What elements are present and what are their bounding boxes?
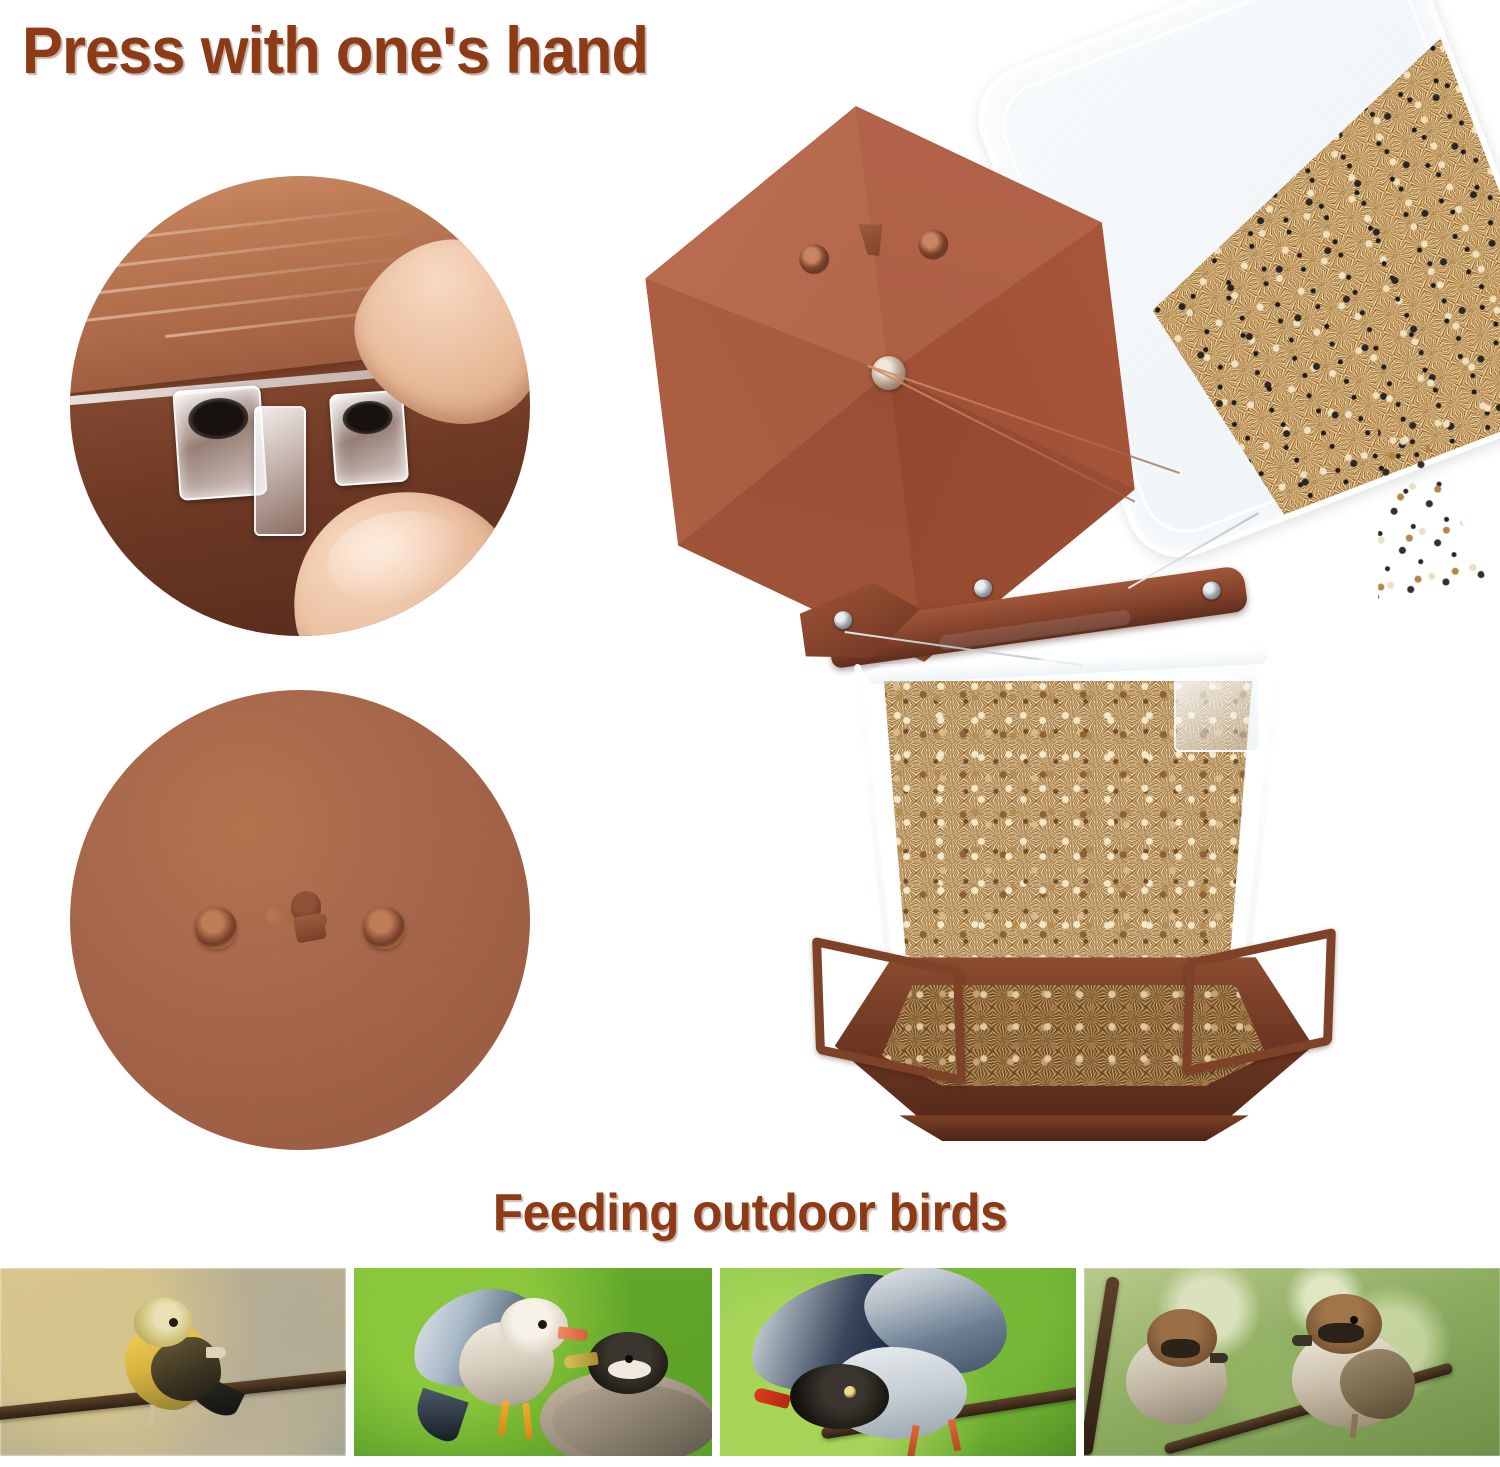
bird-photo-strip xyxy=(0,1268,1500,1456)
press-lid-scene xyxy=(70,176,530,636)
page-title: Press with one's hand xyxy=(22,12,648,88)
bird-beak xyxy=(1210,1353,1228,1363)
bird-starling-perched xyxy=(540,1332,712,1456)
bird-wing xyxy=(552,1385,712,1456)
bird-sparrow-right xyxy=(1284,1294,1424,1430)
bird-greenfinch xyxy=(118,1298,238,1420)
bird-photo-greenfinch xyxy=(0,1268,346,1456)
roof-top-hardware xyxy=(195,885,405,955)
bird-photo-starlings xyxy=(354,1268,712,1456)
bird-beak xyxy=(753,1387,791,1409)
feeder-tray-base xyxy=(814,916,1334,1146)
roof-eyelet-right xyxy=(363,907,405,949)
canopy-hook xyxy=(850,220,894,259)
roof-eyelet-left xyxy=(195,907,237,949)
bird-sparrow-left xyxy=(1126,1309,1246,1429)
bird-head xyxy=(1147,1309,1217,1367)
clear-clip-right xyxy=(329,390,409,487)
section-caption: Feeding outdoor birds xyxy=(38,1183,1463,1243)
linkage-pin xyxy=(973,578,993,598)
bird-head xyxy=(1306,1294,1382,1354)
tray-front-lip xyxy=(856,1115,1293,1141)
bird-leg xyxy=(948,1418,962,1451)
bird-photo-sparrows xyxy=(1084,1268,1500,1456)
canopy-eyelet-left xyxy=(797,242,830,275)
bird-head xyxy=(790,1364,889,1429)
clear-clip-tab xyxy=(254,406,306,536)
roof-hook-mount xyxy=(262,885,338,941)
inset-roof-top-closeup xyxy=(70,690,530,1150)
bird-head xyxy=(588,1332,668,1394)
bird-beak xyxy=(1292,1335,1312,1346)
bird-head xyxy=(134,1298,192,1347)
canopy-eyelet-right xyxy=(917,228,950,261)
hero-product-photo xyxy=(600,0,1500,1180)
tray-perch-rail-right xyxy=(1182,927,1336,1076)
bird-blue-magpie xyxy=(749,1279,1009,1449)
hopper-corner-bracket xyxy=(1174,672,1260,752)
bird-photo-blue-magpie xyxy=(720,1268,1076,1456)
hook-arm-secondary xyxy=(293,913,327,944)
inset-press-lid-closeup xyxy=(70,176,530,636)
bird-beak xyxy=(206,1347,226,1358)
